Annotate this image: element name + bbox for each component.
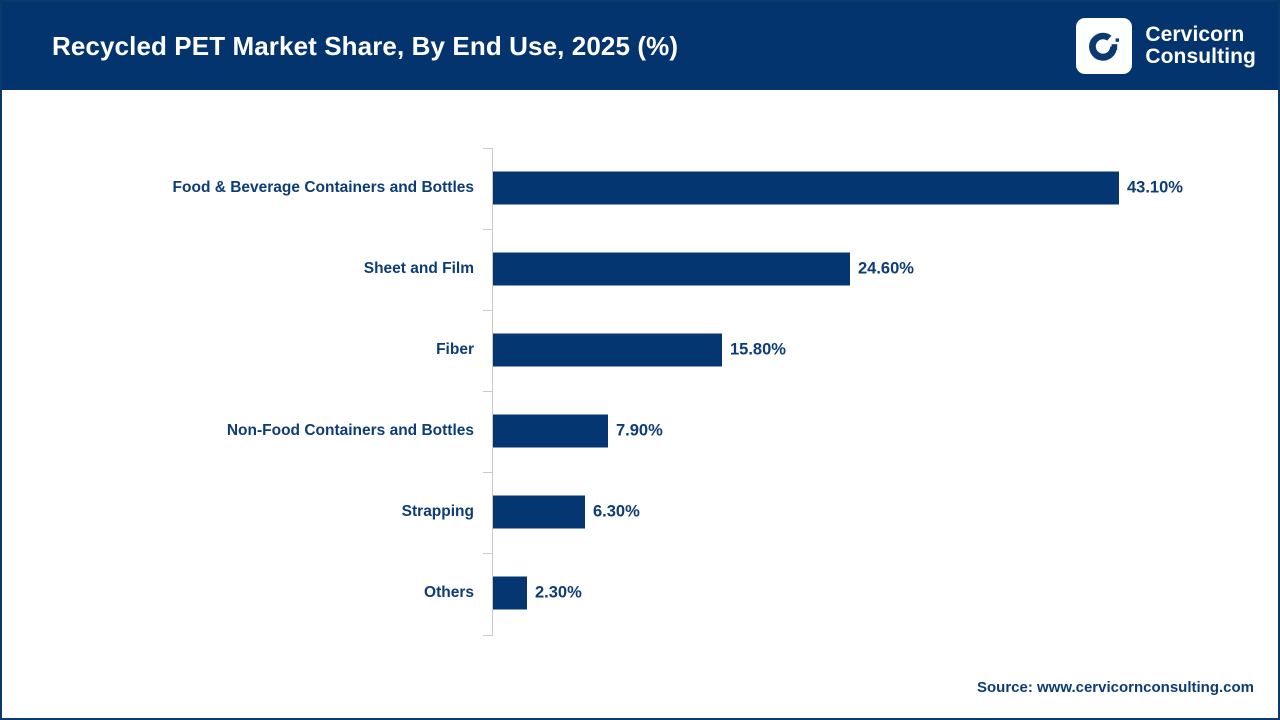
brand-name-line1: Cervicorn [1145, 24, 1256, 46]
source-note: Source: www.cervicornconsulting.com [977, 679, 1254, 696]
bar-segment[interactable] [493, 496, 585, 529]
bar-segment[interactable] [493, 172, 1119, 205]
value-label: 6.30% [593, 503, 640, 522]
bar-row: Strapping 6.30% [2, 472, 1278, 552]
category-label: Food & Beverage Containers and Bottles [173, 179, 474, 197]
bar-row: Others 2.30% [2, 553, 1278, 633]
cervicorn-c-mark-icon [1076, 18, 1132, 74]
page-title: Recycled PET Market Share, By End Use, 2… [52, 31, 678, 62]
value-label: 2.30% [535, 584, 582, 603]
bar-row: Fiber 15.80% [2, 310, 1278, 390]
bar-segment[interactable] [493, 334, 722, 367]
bar-chart-plot: Food & Beverage Containers and Bottles 4… [2, 90, 1278, 718]
value-label: 15.80% [730, 341, 786, 360]
bar-row: Sheet and Film 24.60% [2, 229, 1278, 309]
bar-row: Food & Beverage Containers and Bottles 4… [2, 148, 1278, 228]
category-label: Non-Food Containers and Bottles [227, 422, 474, 440]
chart-card: Recycled PET Market Share, By End Use, 2… [0, 0, 1280, 720]
value-label: 43.10% [1127, 179, 1183, 198]
bar-segment[interactable] [493, 253, 850, 286]
bar-segment[interactable] [493, 415, 608, 448]
value-label: 7.90% [616, 422, 663, 441]
brand-name-line2: Consulting [1145, 46, 1256, 68]
brand-logo[interactable]: Cervicorn Consulting [1076, 18, 1256, 74]
category-label: Sheet and Film [364, 260, 474, 278]
category-label: Others [424, 584, 474, 602]
axis-tick [483, 635, 492, 636]
brand-name: Cervicorn Consulting [1145, 24, 1256, 69]
category-label: Strapping [402, 503, 474, 521]
chart-header: Recycled PET Market Share, By End Use, 2… [2, 2, 1278, 90]
value-label: 24.60% [858, 260, 914, 279]
bar-segment[interactable] [493, 577, 527, 610]
category-label: Fiber [436, 341, 474, 359]
bar-row: Non-Food Containers and Bottles 7.90% [2, 391, 1278, 471]
